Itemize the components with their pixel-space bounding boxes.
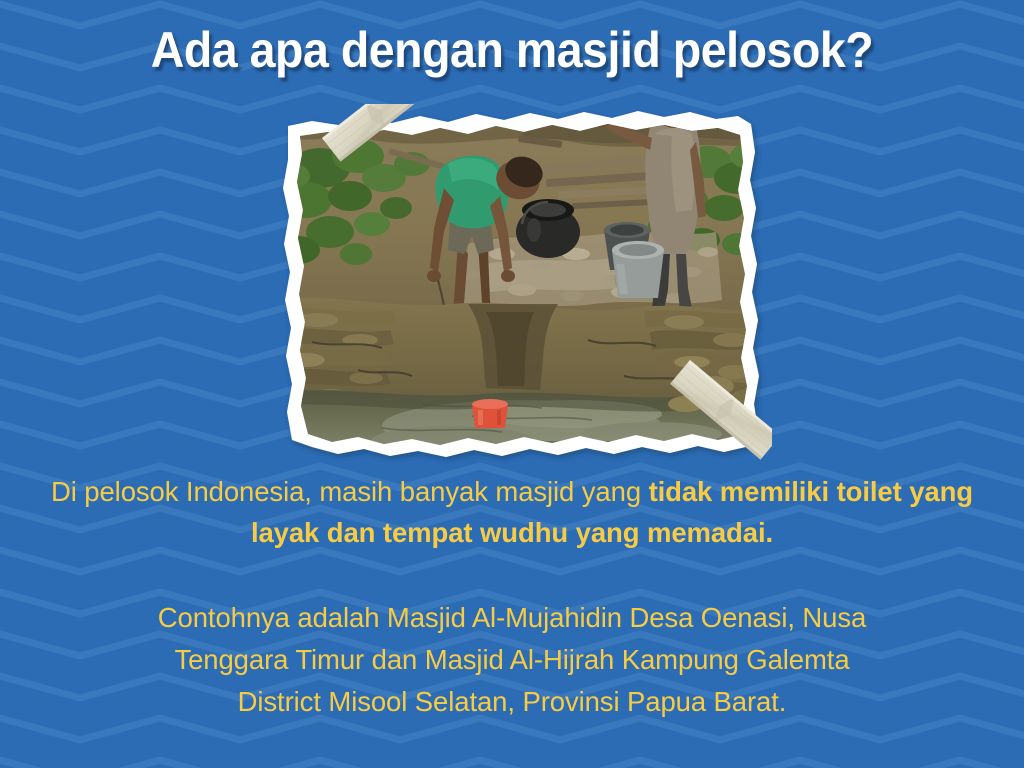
- caption-1-regular-text: Di pelosok Indonesia, masih banyak masji…: [51, 476, 649, 507]
- caption-paragraph-1: Di pelosok Indonesia, masih banyak masji…: [0, 471, 1024, 553]
- caption-2-line-1: Contohnya adalah Masjid Al-Mujahidin Des…: [70, 597, 954, 639]
- photo-illustration: [272, 104, 772, 464]
- caption-2-line-3: District Misool Selatan, Provinsi Papua …: [70, 681, 954, 723]
- photo-card: [272, 104, 772, 464]
- slide-title: Ada apa dengan masjid pelosok?: [36, 20, 988, 80]
- photo-content: [272, 104, 772, 464]
- caption-paragraph-2: Contohnya adalah Masjid Al-Mujahidin Des…: [0, 597, 1024, 723]
- slide-root: Ada apa dengan masjid pelosok?: [0, 0, 1024, 768]
- caption-2-line-2: Tenggara Timur dan Masjid Al-Hijrah Kamp…: [70, 639, 954, 681]
